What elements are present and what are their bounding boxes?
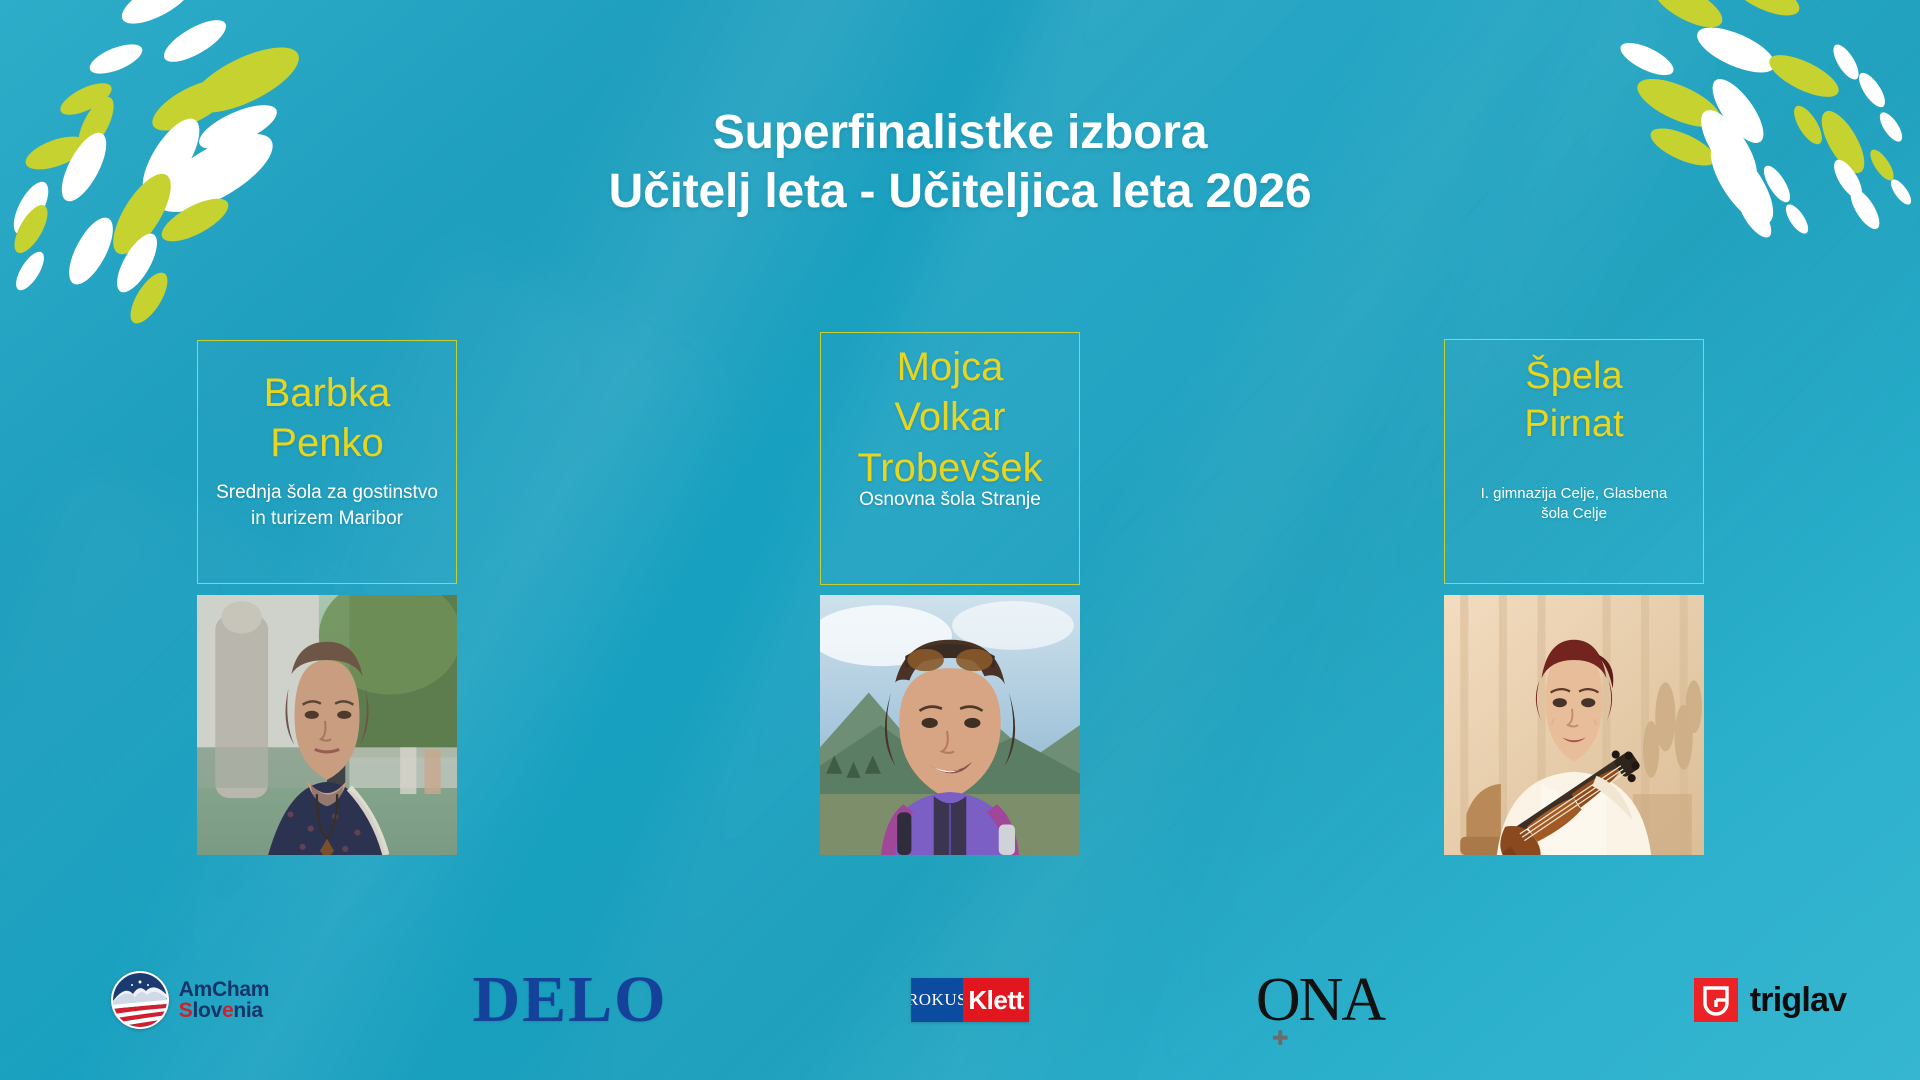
leaf-shape — [1727, 0, 1804, 23]
leaf-shape — [1691, 18, 1781, 81]
sponsor-ona: ONA ✚ — [1200, 950, 1440, 1050]
leaf-shape — [60, 211, 121, 290]
slide-title: Superfinalistke izbora Učitelj leta - Uč… — [0, 104, 1920, 221]
title-line-1: Superfinalistke izbora — [0, 104, 1920, 163]
amcham-s: S — [179, 999, 193, 1022]
leaf-shape — [116, 0, 199, 33]
finalist-name-line: Pirnat — [1444, 401, 1704, 449]
sponsor-delo: DELO — [430, 950, 710, 1050]
amcham-label-top: AmCham — [179, 979, 269, 1000]
sponsor-triglav: triglav — [1620, 950, 1920, 1050]
venus-symbol-icon: ✚ — [1272, 1031, 1288, 1047]
leaf-shape — [86, 38, 146, 79]
amcham-nia: nia — [233, 999, 262, 1022]
amcham-e: e — [222, 999, 233, 1022]
sponsor-logo-strip: AmCham Slovenia DELO ROKUS Klett ONA ✚ — [0, 950, 1920, 1050]
leaf-shape — [109, 228, 165, 298]
leaf-shape — [158, 12, 232, 70]
leaf-shape — [1829, 41, 1864, 83]
finalist-name-line: Špela — [1444, 353, 1704, 401]
sponsor-rokus-klett: ROKUS Klett — [860, 950, 1080, 1050]
delo-wordmark: DELO — [472, 967, 667, 1033]
leaf-shape — [123, 267, 174, 329]
finalist-photo — [1444, 595, 1704, 855]
amcham-label-bottom: Slovenia — [179, 1000, 269, 1021]
rokus-wordmark: ROKUS — [911, 978, 963, 1022]
leaf-shape — [11, 248, 50, 295]
presentation-slide: Superfinalistke izbora Učitelj leta - Uč… — [0, 0, 1920, 1080]
ona-label: ONA — [1256, 966, 1384, 1034]
finalist-school: I. gimnazija Celje, Glasbena šola Celje — [1470, 484, 1678, 525]
sponsor-amcham: AmCham Slovenia — [60, 950, 320, 1050]
triglav-shield-icon — [1694, 978, 1738, 1022]
klett-wordmark: Klett — [963, 978, 1029, 1022]
ona-wordmark: ONA ✚ — [1256, 969, 1384, 1031]
amcham-badge-icon — [111, 971, 169, 1029]
triglav-wordmark: triglav — [1750, 981, 1846, 1020]
amcham-lov: lov — [193, 999, 222, 1022]
leaf-shape — [1616, 36, 1678, 81]
leaf-shape — [1764, 47, 1845, 105]
leaf-shape — [1647, 0, 1728, 36]
finalist-card[interactable]: ŠpelaPirnatI. gimnazija Celje, Glasbena … — [0, 336, 1920, 856]
title-line-2: Učitelj leta - Učiteljica leta 2026 — [0, 163, 1920, 222]
finalist-name: ŠpelaPirnat — [1444, 353, 1704, 449]
finalist-card-list: BarbkaPenkoSrednja šola za gostinstvo in… — [0, 336, 1920, 856]
